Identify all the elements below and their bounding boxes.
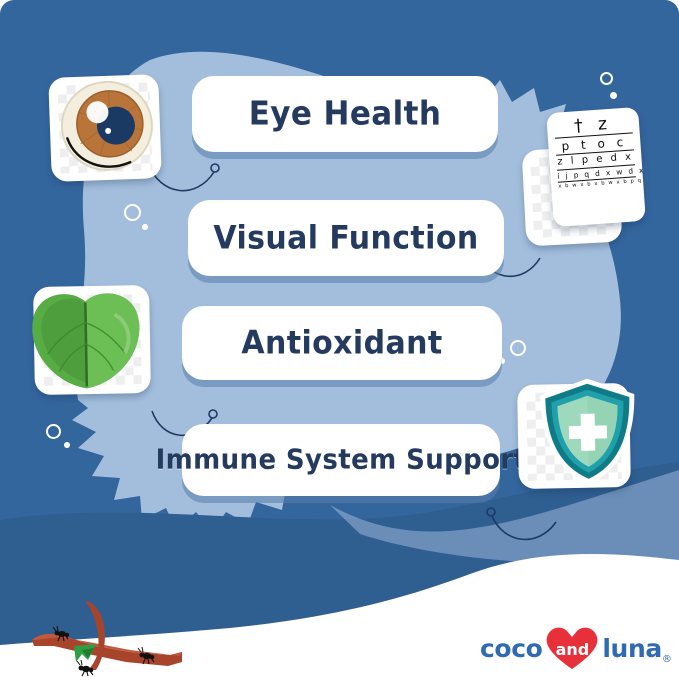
medical-shield-icon [533, 375, 643, 489]
feature-card-immune-system-support[interactable]: Immune System Support [182, 424, 500, 496]
feature-label: Visual Function [213, 219, 478, 256]
branch-with-ants-decoration [30, 600, 220, 677]
logo-word-coco: coco [480, 634, 542, 663]
heart-leaf-icon [27, 287, 145, 393]
logo-heart-text: and [544, 626, 600, 670]
feature-card-eye-health[interactable]: Eye Health [192, 76, 498, 152]
feature-label: Antioxidant [241, 324, 442, 361]
icon-tile-leaf [33, 285, 151, 395]
product-infographic: † z p t o c z l p e d x i j p q d x w d … [0, 0, 679, 677]
feature-label: Eye Health [249, 95, 442, 133]
feature-label: Immune System Support [156, 444, 527, 476]
bubble-dot-decoration [610, 92, 617, 99]
bubble-decoration [510, 340, 526, 356]
bubble-dot-decoration [64, 442, 70, 448]
bubble-decoration [600, 72, 613, 85]
bubble-decoration [124, 204, 141, 221]
bubble-decoration [46, 424, 61, 439]
logo-word-luna: luna [602, 634, 661, 663]
feature-card-antioxidant[interactable]: Antioxidant [182, 306, 502, 380]
logo-heart-icon: and [544, 626, 600, 670]
registered-trademark-mark: ® [662, 654, 672, 670]
icon-tile-shield [517, 383, 631, 489]
feature-card-visual-function[interactable]: Visual Function [188, 200, 504, 276]
bubble-dot-decoration [142, 224, 148, 230]
eye-chart-icon: † z p t o c z l p e d x i j p q d x w d … [546, 107, 646, 227]
brand-logo: coco and luna ® [480, 626, 672, 670]
eye-icon [51, 77, 158, 179]
icon-tile-eye [48, 74, 162, 182]
